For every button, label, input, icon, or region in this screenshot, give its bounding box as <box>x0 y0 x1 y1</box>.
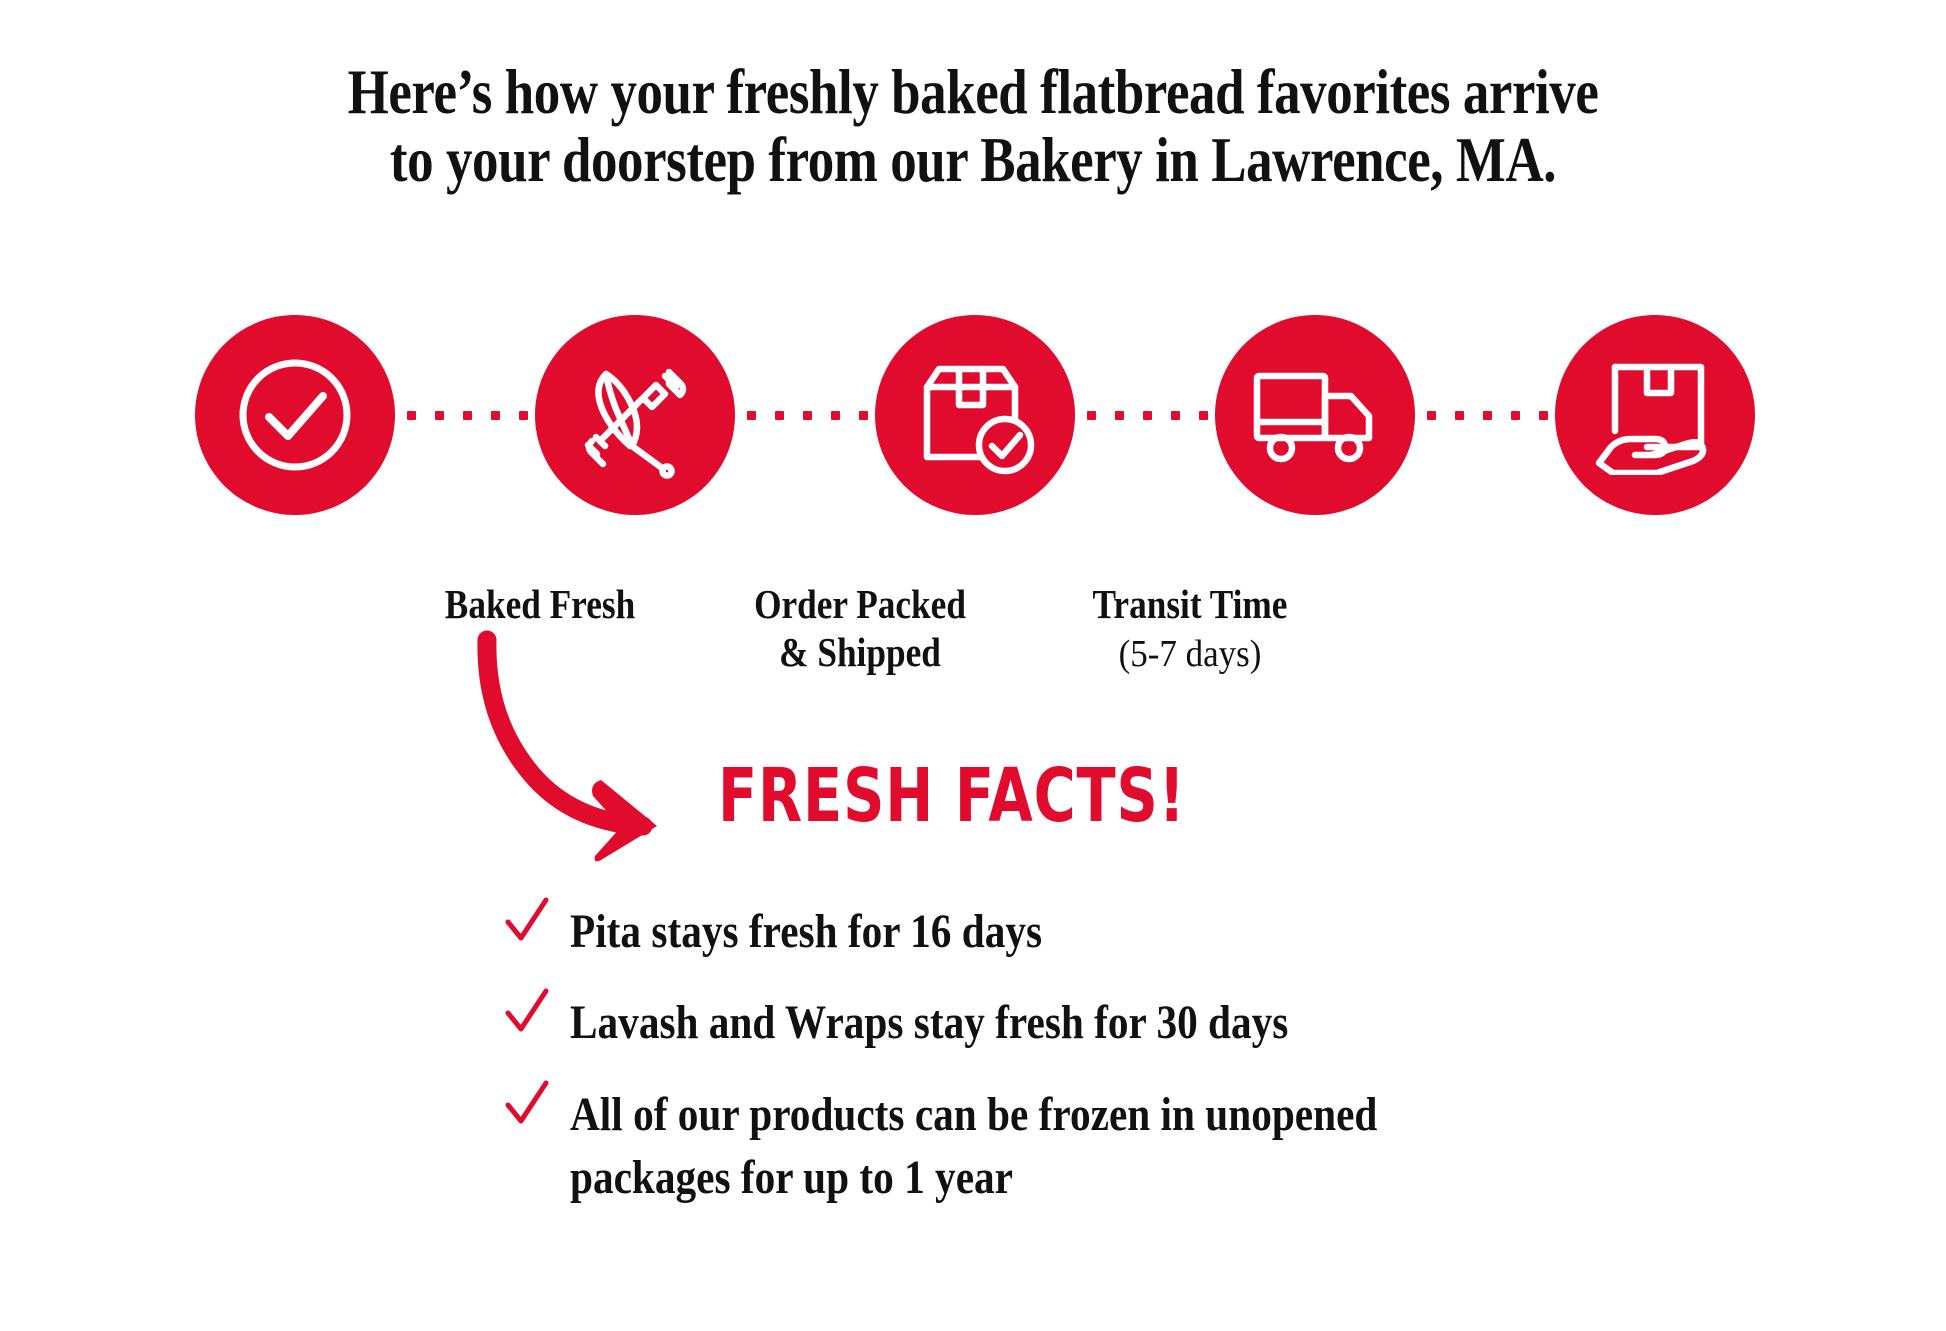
dot <box>463 411 472 420</box>
list-item-text: All of our products can be frozen in uno… <box>570 1083 1542 1210</box>
dot <box>435 411 444 420</box>
step-node-order-packed <box>875 315 1075 515</box>
process-steps-row <box>195 315 1755 515</box>
connector-dots-2 <box>747 411 896 420</box>
step-label-transit-time: Transit Time (5-7 days) <box>1030 580 1350 677</box>
dot <box>1483 411 1492 420</box>
step-label-subtext: (5-7 days) <box>1043 632 1337 677</box>
dot <box>775 411 784 420</box>
step-node-baked-confirmed <box>195 315 395 515</box>
dot <box>1567 411 1576 420</box>
list-item: All of our products can be frozen in uno… <box>500 1083 1700 1210</box>
dot <box>1227 411 1236 420</box>
list-item: Lavash and Wraps stay fresh for 30 days <box>500 991 1700 1054</box>
step-node-transit-time <box>1215 315 1415 515</box>
dot <box>407 411 416 420</box>
connector-dots-1 <box>407 411 556 420</box>
step-labels-row: Baked Fresh Order Packed & Shipped Trans… <box>0 580 1946 710</box>
step-circle <box>1215 315 1415 515</box>
dot <box>1087 411 1096 420</box>
list-item: Pita stays fresh for 16 days <box>500 900 1700 963</box>
check-mark-icon <box>504 896 550 948</box>
list-item-text: Lavash and Wraps stay fresh for 30 days <box>570 991 1542 1054</box>
dot <box>831 411 840 420</box>
fresh-facts-list: Pita stays fresh for 16 days Lavash and … <box>500 900 1700 1237</box>
connector-dots-4 <box>1427 411 1576 420</box>
headline-line-2: to your doorstep from our Bakery in Lawr… <box>156 126 1791 194</box>
dot <box>1115 411 1124 420</box>
step-node-baked-fresh <box>535 315 735 515</box>
dot <box>1427 411 1436 420</box>
infographic-canvas: Here’s how your freshly baked flatbread … <box>0 0 1946 1331</box>
step-circle <box>195 315 395 515</box>
hand-holding-package-icon <box>1589 355 1721 475</box>
whisk-rolling-pin-icon <box>570 350 700 480</box>
dot <box>1539 411 1548 420</box>
step-label-text: Baked Fresh <box>402 580 677 628</box>
step-label-baked-fresh: Baked Fresh <box>380 580 700 628</box>
headline-line-1: Here’s how your freshly baked flatbread … <box>156 58 1791 126</box>
dot <box>1455 411 1464 420</box>
step-circle <box>1555 315 1755 515</box>
check-mark-icon <box>504 987 550 1039</box>
dot <box>519 411 528 420</box>
dot <box>859 411 868 420</box>
connector-dots-3 <box>1087 411 1236 420</box>
dot <box>1199 411 1208 420</box>
dot <box>887 411 896 420</box>
step-label-text-line1: Order Packed <box>722 580 997 628</box>
delivery-truck-icon <box>1249 360 1381 470</box>
step-circle <box>875 315 1075 515</box>
check-circle-icon <box>231 351 359 479</box>
dot <box>747 411 756 420</box>
dot <box>1511 411 1520 420</box>
fresh-facts-heading: FRESH FACTS! <box>718 752 1186 839</box>
dot <box>1171 411 1180 420</box>
list-item-text: Pita stays fresh for 16 days <box>570 900 1542 963</box>
package-check-icon <box>909 349 1041 481</box>
dot <box>491 411 500 420</box>
step-node-delivered <box>1555 315 1755 515</box>
dot <box>1143 411 1152 420</box>
check-mark-icon <box>504 1079 550 1131</box>
dot <box>547 411 556 420</box>
step-label-text: Transit Time <box>1052 580 1327 628</box>
step-circle <box>535 315 735 515</box>
page-title: Here’s how your freshly baked flatbread … <box>156 58 1791 194</box>
dot <box>803 411 812 420</box>
